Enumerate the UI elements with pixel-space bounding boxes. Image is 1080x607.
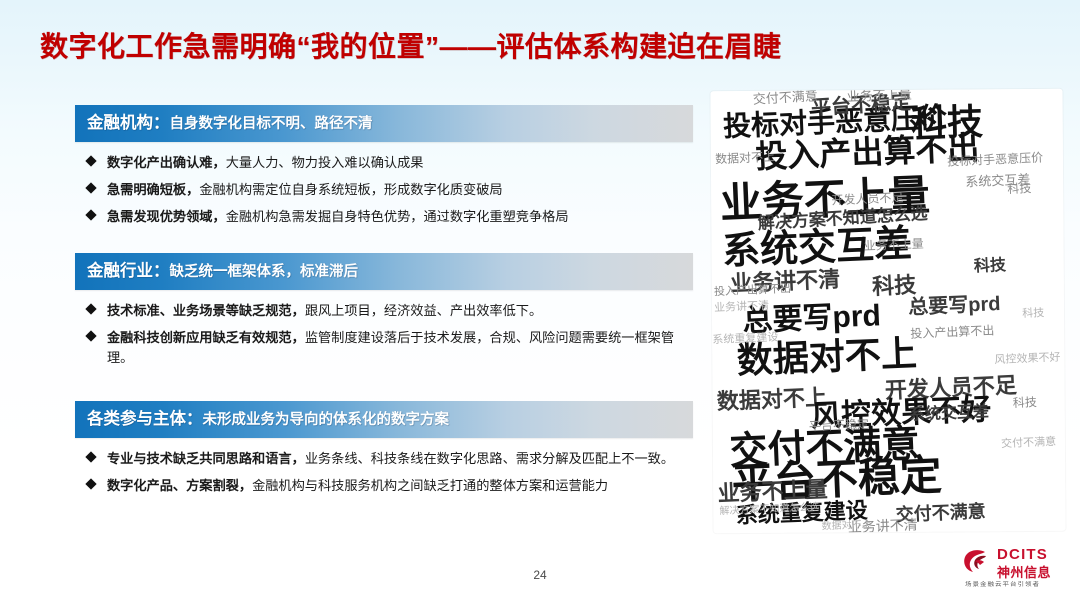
bullet-list: 专业与技术缺乏共同思路和语言，业务条线、科技条线在数字化思路、需求分解及匹配上不… <box>75 438 695 496</box>
section-header-bar: 金融行业：缺乏统一框架体系，标准滞后 <box>75 253 693 290</box>
bullet-rest: 业务条线、科技条线在数字化思路、需求分解及匹配上不一致。 <box>305 451 674 466</box>
bullet-strong: 数字化产出确认难， <box>107 155 226 170</box>
wordcloud-term: 平台不稳定 <box>809 418 869 433</box>
bullet-strong: 急需发现优势领域， <box>107 209 226 224</box>
bullet-strong: 急需明确短板， <box>107 182 199 197</box>
wordcloud-term: 交付不满意 <box>1001 437 1056 450</box>
wordcloud-term: 数据对不上 <box>821 520 871 532</box>
section-participants: 各类参与主体：未形成业务为导向的体系化的数字方案 专业与技术缺乏共同思路和语言，… <box>75 401 695 503</box>
list-item: 数字化产品、方案割裂，金融机构与科技服务机构之间缺乏打通的整体方案和运营能力 <box>75 476 695 496</box>
diamond-bullet-icon <box>85 303 96 314</box>
section-header-label: 金融行业： <box>87 262 170 280</box>
wordcloud-term: 业务讲不清 <box>714 301 769 314</box>
list-item: 急需明确短板，金融机构需定位自身系统短板，形成数字化质变破局 <box>75 180 695 200</box>
bullet-strong: 金融科技创新应用缺乏有效规范， <box>107 330 305 345</box>
bullet-strong: 数字化产品、方案割裂， <box>107 478 252 493</box>
list-item: 数字化产出确认难，大量人力、物力投入难以确认成果 <box>75 153 695 173</box>
section-header-bar: 金融机构：自身数字化目标不明、路径不清 <box>75 105 693 142</box>
section-header-subtitle: 缺乏统一框架体系，标准滞后 <box>170 264 359 280</box>
section-header-text: 金融机构：自身数字化目标不明、路径不清 <box>87 105 373 142</box>
wordcloud-term: 科技 <box>1013 396 1037 409</box>
wordcloud-term: 业务不上量 <box>846 89 912 103</box>
page-title: 数字化工作急需明确“我的位置”——评估体系构建迫在眉睫 <box>40 24 1040 70</box>
section-header-subtitle: 未形成业务为导向的体系化的数字方案 <box>203 412 450 428</box>
section-financial-institutions: 金融机构：自身数字化目标不明、路径不清 数字化产出确认难，大量人力、物力投入难以… <box>75 105 695 234</box>
wordcloud-canvas: 投标对手恶意压价科技平台不稳定业务不上量交付不满意投入产出算不出业务不上量系统交… <box>710 89 1065 533</box>
section-header-label: 各类参与主体： <box>87 410 203 428</box>
company-logo: DCITS 神州信息 场景金融云平台引领者 <box>963 546 1075 598</box>
bullet-rest: 金融机构需定位自身系统短板，形成数字化质变破局 <box>199 182 502 197</box>
diamond-bullet-icon <box>85 451 96 462</box>
wordcloud-term: 投入产出算不出 <box>714 284 791 298</box>
logo-tagline: 场景金融云平台引领者 <box>965 579 1040 588</box>
bullet-list: 数字化产出确认难，大量人力、物力投入难以确认成果 急需明确短板，金融机构需定位自… <box>75 142 695 227</box>
wordcloud-term: 系统交互差 <box>909 405 990 424</box>
diamond-bullet-icon <box>85 182 96 193</box>
pain-point-wordcloud: 投标对手恶意压价科技平台不稳定业务不上量交付不满意投入产出算不出业务不上量系统交… <box>710 89 1065 533</box>
bullet-rest: 金融机构与科技服务机构之间缺乏打通的整体方案和运营能力 <box>252 478 608 493</box>
section-header-text: 各类参与主体：未形成业务为导向的体系化的数字方案 <box>87 401 449 438</box>
content-column: 金融机构：自身数字化目标不明、路径不清 数字化产出确认难，大量人力、物力投入难以… <box>75 105 695 550</box>
slide-canvas: 数字化工作急需明确“我的位置”——评估体系构建迫在眉睫 金融机构：自身数字化目标… <box>0 0 1080 607</box>
bullet-strong: 技术标准、业务场景等缺乏规范， <box>107 303 305 318</box>
bullet-list: 技术标准、业务场景等缺乏规范，跟风上项目，经济效益、产出效率低下。 金融科技创新… <box>75 290 695 368</box>
section-header-bar: 各类参与主体：未形成业务为导向的体系化的数字方案 <box>75 401 693 438</box>
section-header-text: 金融行业：缺乏统一框架体系，标准滞后 <box>87 253 358 290</box>
diamond-bullet-icon <box>85 478 96 489</box>
wordcloud-term: 科技 <box>872 274 917 298</box>
list-item: 技术标准、业务场景等缺乏规范，跟风上项目，经济效益、产出效率低下。 <box>75 301 695 321</box>
wordcloud-term: 数据对不上 <box>715 151 775 166</box>
list-item: 急需发现优势领域，金融机构急需发掘自身特色优势，通过数字化重塑竞争格局 <box>75 207 695 227</box>
page-number: 24 <box>0 568 1080 582</box>
wordcloud-term: 风控效果不好 <box>994 352 1060 366</box>
wordcloud-term: 投入产出算不出 <box>755 132 980 173</box>
diamond-bullet-icon <box>85 155 96 166</box>
section-header-subtitle: 自身数字化目标不明、路径不清 <box>170 116 373 132</box>
list-item: 专业与技术缺乏共同思路和语言，业务条线、科技条线在数字化思路、需求分解及匹配上不… <box>75 449 695 469</box>
wordcloud-term: 系统交互差 <box>965 173 1031 189</box>
diamond-bullet-icon <box>85 209 96 220</box>
bullet-strong: 专业与技术缺乏共同思路和语言， <box>107 451 305 466</box>
wordcloud-term: 交付不满意 <box>752 89 818 106</box>
wordcloud-term: 科技 <box>1022 308 1044 320</box>
list-item: 金融科技创新应用缺乏有效规范，监管制度建设落后于技术发展，合规、风险问题需要统一… <box>75 328 695 368</box>
wordcloud-term: 开发人员不足 <box>831 191 903 206</box>
bullet-rest: 跟风上项目，经济效益、产出效率低下。 <box>305 303 542 318</box>
bullet-rest: 金融机构急需发掘自身特色优势，通过数字化重塑竞争格局 <box>226 209 569 224</box>
wordcloud-term: 业务不上量 <box>864 238 924 253</box>
dcits-swirl-icon <box>963 548 993 574</box>
bullet-rest: 大量人力、物力投入难以确认成果 <box>226 155 424 170</box>
wordcloud-term: 科技 <box>974 258 1007 275</box>
logo-brand-en: DCITS <box>997 546 1048 563</box>
wordcloud-term: 总要写prd <box>908 294 1001 318</box>
diamond-bullet-icon <box>85 330 96 341</box>
wordcloud-term: 投入产出算不出 <box>910 324 994 340</box>
section-financial-industry: 金融行业：缺乏统一框架体系，标准滞后 技术标准、业务场景等缺乏规范，跟风上项目，… <box>75 253 695 375</box>
wordcloud-term: 投标对手恶意压价 <box>947 152 1043 168</box>
section-header-label: 金融机构： <box>87 114 170 132</box>
